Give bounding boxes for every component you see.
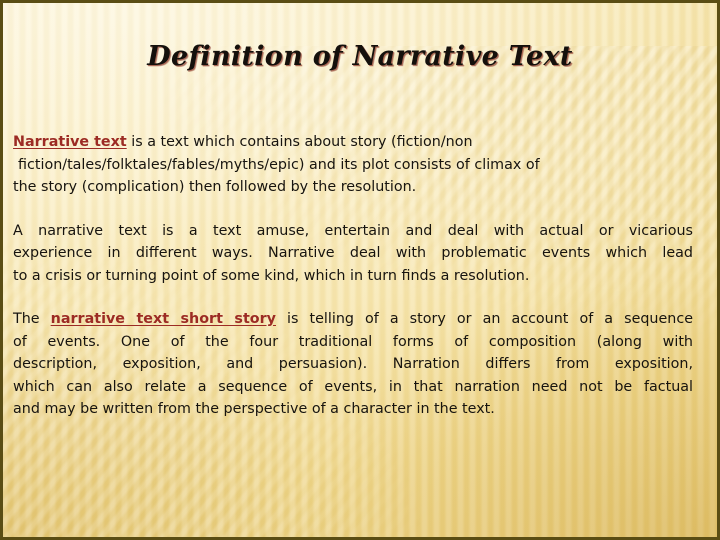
paragraph-3-line-5: and may be written from the perspective … [13,398,693,421]
paragraph-3-lead: The [13,311,51,327]
paragraph-3-line-1: The narrative text short story is tellin… [13,308,693,331]
term-narrative-text: Narrative text [13,134,127,150]
paragraph-short-story: The narrative text short story is tellin… [13,308,693,421]
paragraph-3-line-2: of events. One of the four traditional f… [13,331,693,354]
paragraph-1-line-1: Narrative text is a text which contains … [13,131,693,154]
slide-body: Narrative text is a text which contains … [13,131,693,421]
paragraph-2-line-2: experience in different ways. Narrative … [13,242,693,265]
term-narrative-text-short-story: narrative text short story [51,311,276,327]
paragraph-3-line-3: description, exposition, and persuasion)… [13,353,693,376]
slide: Definition of Narrative Text Narrative t… [0,0,720,540]
paragraph-1-line-1-rest: is a text which contains about story (fi… [127,134,473,150]
paragraph-3-line-4: which can also relate a sequence of even… [13,376,693,399]
paragraph-2-line-3: to a crisis or turning point of some kin… [13,265,693,288]
paragraph-purpose: A narrative text is a text amuse, entert… [13,220,693,288]
slide-content: Definition of Narrative Text Narrative t… [3,3,717,537]
paragraph-1-line-2: fiction/tales/folktales/fables/myths/epi… [13,154,693,177]
paragraph-definition: Narrative text is a text which contains … [13,131,693,199]
paragraph-2-line-1: A narrative text is a text amuse, entert… [13,220,693,243]
paragraph-1-line-3: the story (complication) then followed b… [13,176,693,199]
slide-title: Definition of Narrative Text [3,41,717,72]
paragraph-3-line-1-rest: is telling of a story or an account of a… [276,311,693,327]
